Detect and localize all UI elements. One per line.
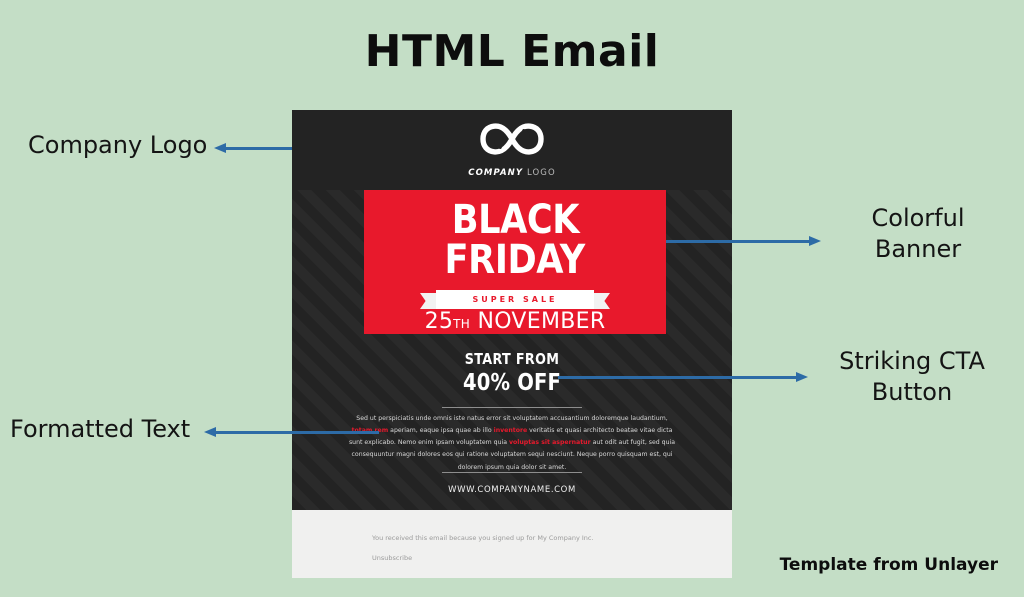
logo-word-light: LOGO bbox=[523, 168, 556, 178]
cta-eyebrow: START FROM bbox=[325, 350, 699, 368]
copy-part-2: aperiam, eaque ipsa quae ab illo bbox=[388, 427, 493, 434]
logo-word-bold: COMPANY bbox=[468, 168, 523, 178]
banner-line-1: BLACK bbox=[451, 201, 578, 239]
banner-date-number: 25 bbox=[425, 309, 454, 334]
page-title: HTML Email bbox=[0, 26, 1024, 77]
cta-headline[interactable]: 40% OFF bbox=[325, 370, 699, 396]
black-friday-banner: BLACK FRIDAY SUPER SALE 25TH NOVEMBER bbox=[364, 190, 666, 334]
email-header: COMPANY LOGO bbox=[292, 110, 732, 190]
divider-top bbox=[442, 407, 582, 408]
footer-notice: You received this email because you sign… bbox=[372, 534, 594, 542]
ribbon-body: SUPER SALE bbox=[436, 290, 594, 309]
copy-highlight-3: voluptas sit aspernatur bbox=[509, 439, 591, 446]
divider-bottom bbox=[442, 472, 582, 473]
copy-part-1: Sed ut perspiciatis unde omnis iste natu… bbox=[356, 415, 667, 422]
annotation-striking-cta: Striking CTA Button bbox=[812, 346, 1012, 407]
banner-date: 25TH NOVEMBER bbox=[425, 309, 606, 334]
banner-date-month: NOVEMBER bbox=[477, 309, 605, 334]
banner-date-ordinal: TH bbox=[453, 317, 470, 331]
email-body: BLACK FRIDAY SUPER SALE 25TH NOVEMBER ST… bbox=[292, 190, 732, 510]
cta-block[interactable]: START FROM 40% OFF bbox=[292, 350, 732, 408]
copy-highlight-2: inventore bbox=[494, 427, 528, 434]
annotation-colorful-banner: Colorful Banner bbox=[828, 203, 1008, 264]
email-footer: You received this email because you sign… bbox=[292, 510, 732, 578]
email-preview: COMPANY LOGO BLACK FRIDAY SUPER SALE 25T… bbox=[292, 110, 732, 510]
template-credit: Template from Unlayer bbox=[780, 555, 998, 575]
super-sale-ribbon: SUPER SALE bbox=[420, 290, 610, 297]
formatted-body-text: Sed ut perspiciatis unde omnis iste natu… bbox=[347, 413, 677, 473]
annotation-company-logo: Company Logo bbox=[28, 130, 207, 161]
logo-wordmark: COMPANY LOGO bbox=[468, 168, 556, 178]
infinity-loop-logo-icon bbox=[480, 122, 544, 161]
ribbon-label: SUPER SALE bbox=[472, 295, 557, 304]
annotation-formatted-text: Formatted Text bbox=[10, 414, 190, 445]
banner-line-2: FRIDAY bbox=[445, 241, 585, 279]
unsubscribe-link[interactable]: Unsubscribe bbox=[372, 554, 412, 562]
website-link[interactable]: WWW.COMPANYNAME.COM bbox=[292, 485, 732, 495]
